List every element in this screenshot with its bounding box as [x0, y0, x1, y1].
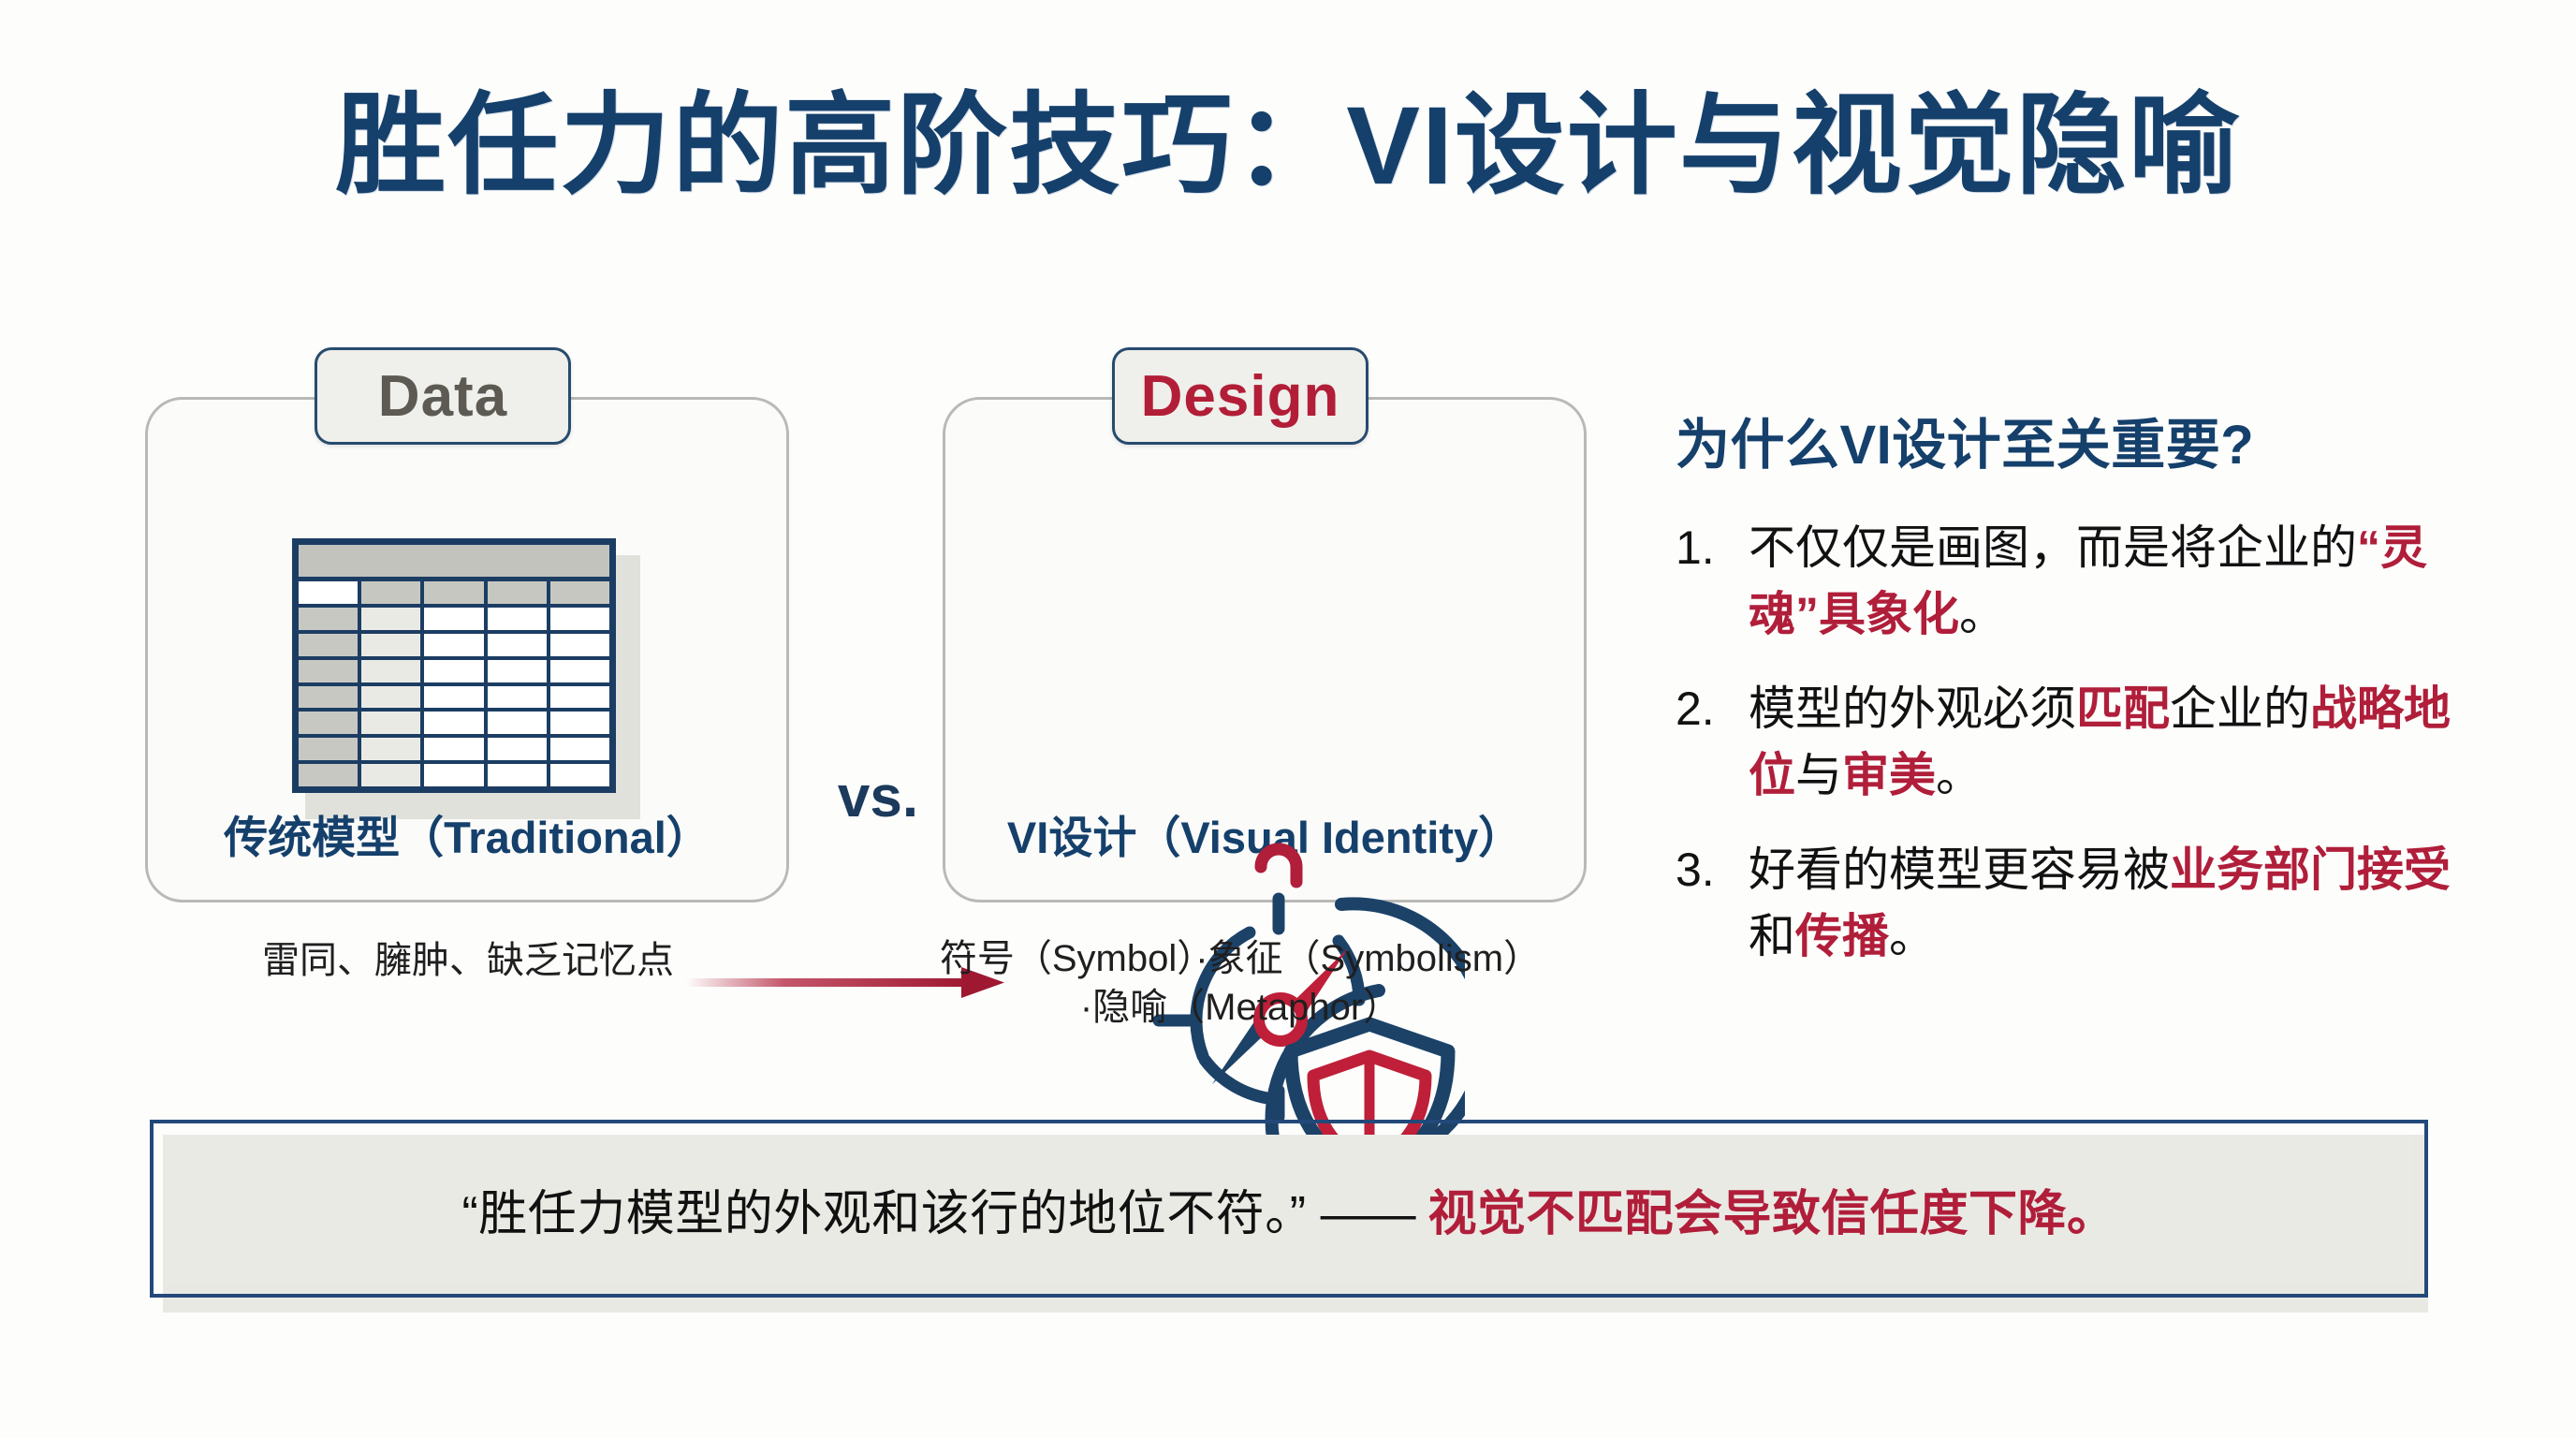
- table-row: [299, 634, 609, 660]
- badge-data: Data: [315, 347, 571, 445]
- reason-number: 1.: [1676, 515, 1715, 581]
- table-cell: [361, 738, 424, 760]
- table-cell: [299, 764, 361, 786]
- table-cell: [299, 738, 361, 760]
- quote-dash: ——: [1321, 1187, 1414, 1241]
- table-icon-grid: [292, 538, 616, 793]
- table-row: [299, 660, 609, 686]
- table-cell: [424, 686, 487, 709]
- comparison-area: Data: [145, 384, 1587, 917]
- reasons-section: 为什么VI设计至关重要? 1.不仅仅是画图，而是将企业的“灵魂”具象化。2.模型…: [1676, 401, 2462, 998]
- table-cell: [550, 712, 609, 734]
- sub-caption-vi: 符号（Symbol）·象征（Symbolism） ·隐喻（Metaphor）: [899, 934, 1582, 1032]
- reason-text: 模型的外观必须: [1749, 682, 2076, 735]
- table-cell: [488, 712, 550, 734]
- reason-highlight: 业务部门接受: [2170, 844, 2451, 896]
- table-cell: [424, 581, 487, 604]
- page-title: 胜任力的高阶技巧：VI设计与视觉隐喻: [0, 86, 2576, 208]
- table-row: [299, 608, 609, 634]
- table-cell: [424, 738, 487, 760]
- quote-callout: “胜任力模型的外观和该行的地位不符。” —— 视觉不匹配会导致信任度下降。: [150, 1120, 2428, 1303]
- table-cell: [424, 634, 487, 656]
- table-cell: [550, 608, 609, 630]
- table-grid-icon: [292, 538, 627, 802]
- reason-item: 2.模型的外观必须匹配企业的战略地位与审美。: [1676, 676, 2462, 809]
- table-cell: [361, 764, 424, 786]
- table-cell: [488, 608, 550, 630]
- table-cell: [361, 660, 424, 682]
- table-cell: [361, 634, 424, 656]
- reason-text: 不仅仅是画图，而是将企业的: [1749, 521, 2357, 574]
- table-cell: [361, 608, 424, 630]
- reason-text: 。: [1936, 749, 1983, 801]
- table-cell: [550, 764, 609, 786]
- reason-text: 与: [1795, 749, 1842, 801]
- table-cell: [488, 764, 550, 786]
- reason-text: 企业的: [2170, 682, 2310, 735]
- quote-quoted: “胜任力模型的外观和该行的地位不符。”: [461, 1187, 1306, 1241]
- table-cell: [424, 660, 487, 682]
- sub-caption-vi-line2: ·隐喻（Metaphor）: [899, 983, 1582, 1032]
- table-cell: [424, 608, 487, 630]
- sub-caption-traditional: 雷同、臃肿、缺乏记忆点: [145, 936, 791, 985]
- reason-text: 。: [1889, 910, 1936, 962]
- table-header-band: [299, 545, 609, 581]
- panel-traditional-caption: 传统模型（Traditional）: [148, 801, 786, 866]
- table-cell: [299, 660, 361, 682]
- table-cell: [299, 686, 361, 709]
- table-row: [299, 581, 609, 608]
- reasons-list: 1.不仅仅是画图，而是将企业的“灵魂”具象化。2.模型的外观必须匹配企业的战略地…: [1676, 515, 2462, 970]
- table-cell: [550, 738, 609, 760]
- table-cell: [550, 660, 609, 682]
- table-row: [299, 686, 609, 712]
- table-cell: [299, 634, 361, 656]
- table-cell: [299, 608, 361, 630]
- reason-number: 2.: [1676, 676, 1715, 742]
- table-row: [299, 764, 609, 786]
- table-cell: [488, 660, 550, 682]
- table-cell: [361, 686, 424, 709]
- panel-traditional-model: Data: [145, 397, 789, 902]
- table-cell: [550, 686, 609, 709]
- reason-highlight: 传播: [1795, 910, 1889, 962]
- quote-text: “胜任力模型的外观和该行的地位不符。” —— 视觉不匹配会导致信任度下降。: [461, 1174, 2115, 1244]
- table-cell: [361, 581, 424, 604]
- table-cell: [550, 581, 609, 604]
- reasons-heading: 为什么VI设计至关重要?: [1676, 401, 2462, 479]
- table-cell: [361, 712, 424, 734]
- reason-text: 。: [1959, 588, 2006, 640]
- reason-highlight: 匹配: [2076, 682, 2170, 735]
- reason-highlight: 审美: [1842, 749, 1936, 801]
- reason-number: 3.: [1676, 837, 1715, 903]
- reason-text: 和: [1749, 910, 1795, 962]
- table-cell: [299, 581, 361, 604]
- table-body: [299, 581, 609, 786]
- quote-conclusion: 视觉不匹配会导致信任度下降。: [1428, 1187, 2116, 1241]
- table-cell: [424, 712, 487, 734]
- reason-text: 好看的模型更容易被: [1749, 844, 2170, 896]
- table-cell: [488, 581, 550, 604]
- quote-frame: “胜任力模型的外观和该行的地位不符。” —— 视觉不匹配会导致信任度下降。: [150, 1120, 2428, 1298]
- table-cell: [488, 634, 550, 656]
- vs-label: vs.: [808, 764, 948, 830]
- badge-design: Design: [1112, 347, 1368, 445]
- sub-caption-vi-line1: 符号（Symbol）·象征（Symbolism）: [899, 934, 1582, 983]
- table-cell: [550, 634, 609, 656]
- table-row: [299, 738, 609, 764]
- reason-item: 3.好看的模型更容易被业务部门接受和传播。: [1676, 837, 2462, 970]
- table-cell: [299, 712, 361, 734]
- reason-item: 1.不仅仅是画图，而是将企业的“灵魂”具象化。: [1676, 515, 2462, 648]
- table-row: [299, 712, 609, 738]
- table-cell: [488, 686, 550, 709]
- table-cell: [424, 764, 487, 786]
- table-cell: [488, 738, 550, 760]
